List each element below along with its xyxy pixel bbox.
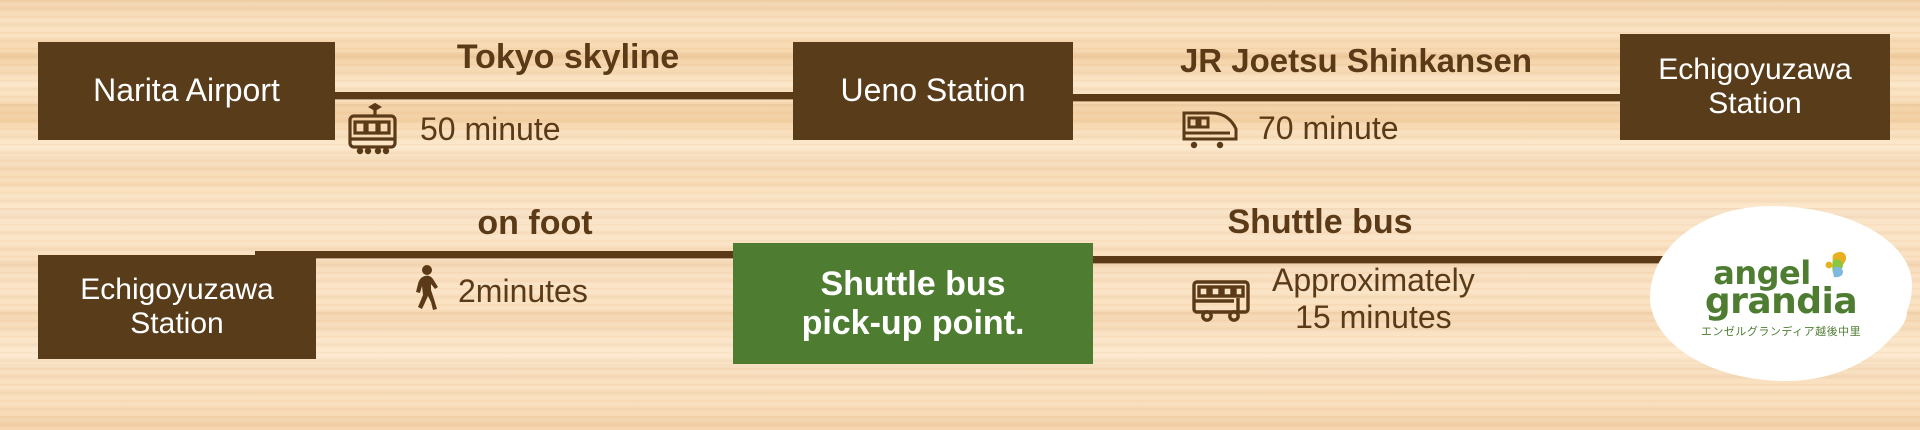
node-label-line2: Station [130,307,223,341]
leg-duration-joetsu-shinkansen: 70 minute [1180,105,1640,151]
leg-duration-tokyo-skyline: 50 minute [334,103,804,155]
route-infographic: Narita Airport Tokyo skyline 50 minute U… [0,0,1920,430]
node-echigoyuzawa-station-bottom[interactable]: Echigoyuzawa Station [38,255,316,359]
logo-japanese-subtitle: エンゼルグランディア越後中里 [1701,323,1861,339]
highlight-label-line2: pick-up point. [802,304,1025,342]
train-icon [344,103,402,155]
leg-title-text: Shuttle bus [1227,203,1412,241]
node-label-line1: Echigoyuzawa [80,273,273,307]
leg-duration-text: 50 minute [420,111,561,148]
angel-grandia-logo[interactable]: angel grandia エンゼルグランディア越後中里 [1650,206,1912,381]
leg-title-text: Tokyo skyline [457,38,679,76]
node-label: Narita Airport [93,73,280,109]
node-label-line2: Station [1708,87,1801,121]
node-shuttle-bus-pickup[interactable]: Shuttle bus pick-up point. [733,243,1093,364]
leg-duration-shuttle-bus: Approximately 15 minutes [1190,262,1620,336]
leg-title-shuttle-bus: Shuttle bus [1090,203,1550,242]
connector-line-narita-ueno [330,92,800,99]
walking-person-icon [410,264,444,318]
node-label-line1: Echigoyuzawa [1658,53,1851,87]
leg-duration-text: Approximately 15 minutes [1272,262,1475,336]
leg-duration-text: 2minutes [458,273,588,310]
bus-icon [1190,274,1256,324]
shinkansen-icon [1180,105,1242,151]
leg-title-joetsu-shinkansen: JR Joetsu Shinkansen [1086,42,1626,80]
node-echigoyuzawa-station-top[interactable]: Echigoyuzawa Station [1620,34,1890,140]
node-label: Ueno Station [840,73,1025,109]
leg-duration-line2: 15 minutes [1272,299,1475,336]
node-narita-airport[interactable]: Narita Airport [38,42,335,140]
leg-title-tokyo-skyline: Tokyo skyline [348,38,788,77]
leg-duration-line1: Approximately [1272,262,1475,299]
leg-duration-text: 70 minute [1258,110,1399,147]
leg-title-on-foot: on foot [330,204,740,243]
node-ueno-station[interactable]: Ueno Station [793,42,1073,140]
logo-wordmark-line2: grandia [1705,285,1857,318]
highlight-label-line1: Shuttle bus [820,265,1005,303]
connector-line-echigoyuzawa-pickup [255,251,740,258]
connector-line-ueno-echigoyuzawa [1068,94,1628,101]
leg-title-text: JR Joetsu Shinkansen [1180,42,1532,79]
leg-title-text: on foot [477,204,592,242]
